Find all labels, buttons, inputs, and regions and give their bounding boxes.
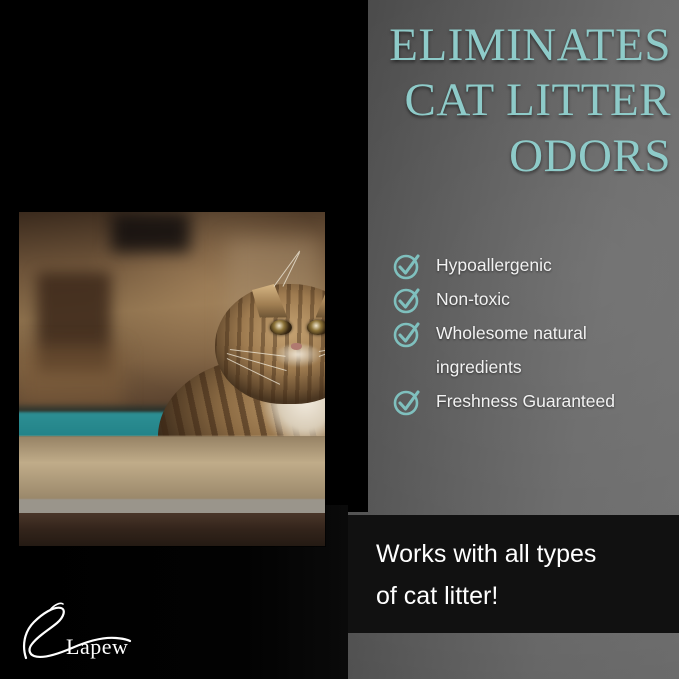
check-circle-icon [392, 387, 422, 417]
callout-line-2: of cat litter! [376, 575, 679, 617]
list-item: Wholesome natural [392, 318, 672, 349]
feature-list: Hypoallergenic Non-toxic Wholesome natur… [392, 250, 672, 420]
list-item: Non-toxic [392, 284, 672, 315]
logo-wordmark: Lapew [66, 634, 128, 660]
kitten-ear-left [252, 284, 288, 318]
list-item-continuation: ingredients [392, 352, 672, 383]
kitten-ear-right [316, 284, 325, 318]
product-ad-banner: ELIMINATES CAT LITTER ODORS [0, 0, 679, 679]
list-item-label: Hypoallergenic [436, 250, 552, 280]
list-item: Freshness Guaranteed [392, 386, 672, 417]
photo-bg-shape-floor [19, 346, 123, 406]
litter-tray-front [19, 513, 325, 546]
list-item-label: Wholesome natural [436, 318, 587, 348]
kitten-eye-right [307, 320, 325, 336]
photo-bg-shape-top [111, 212, 191, 252]
cat-litter-shading [19, 436, 325, 503]
list-item-label: ingredients [436, 352, 522, 382]
list-item-label: Non-toxic [436, 284, 510, 314]
list-item: Hypoallergenic [392, 250, 672, 281]
list-item-label: Freshness Guaranteed [436, 386, 615, 416]
page-title: ELIMINATES CAT LITTER ODORS [251, 18, 671, 184]
check-circle-icon [392, 285, 422, 315]
kitten-whisker [318, 340, 325, 352]
check-circle-icon [392, 319, 422, 349]
kitten-whisker [227, 358, 281, 385]
product-photo [19, 212, 325, 546]
check-circle-icon [392, 251, 422, 281]
kitten-eye-left [270, 320, 292, 336]
callout-line-1: Works with all types [376, 533, 679, 575]
callout-box: Works with all types of cat litter! [348, 515, 679, 633]
brand-logo: Lapew [20, 596, 170, 662]
